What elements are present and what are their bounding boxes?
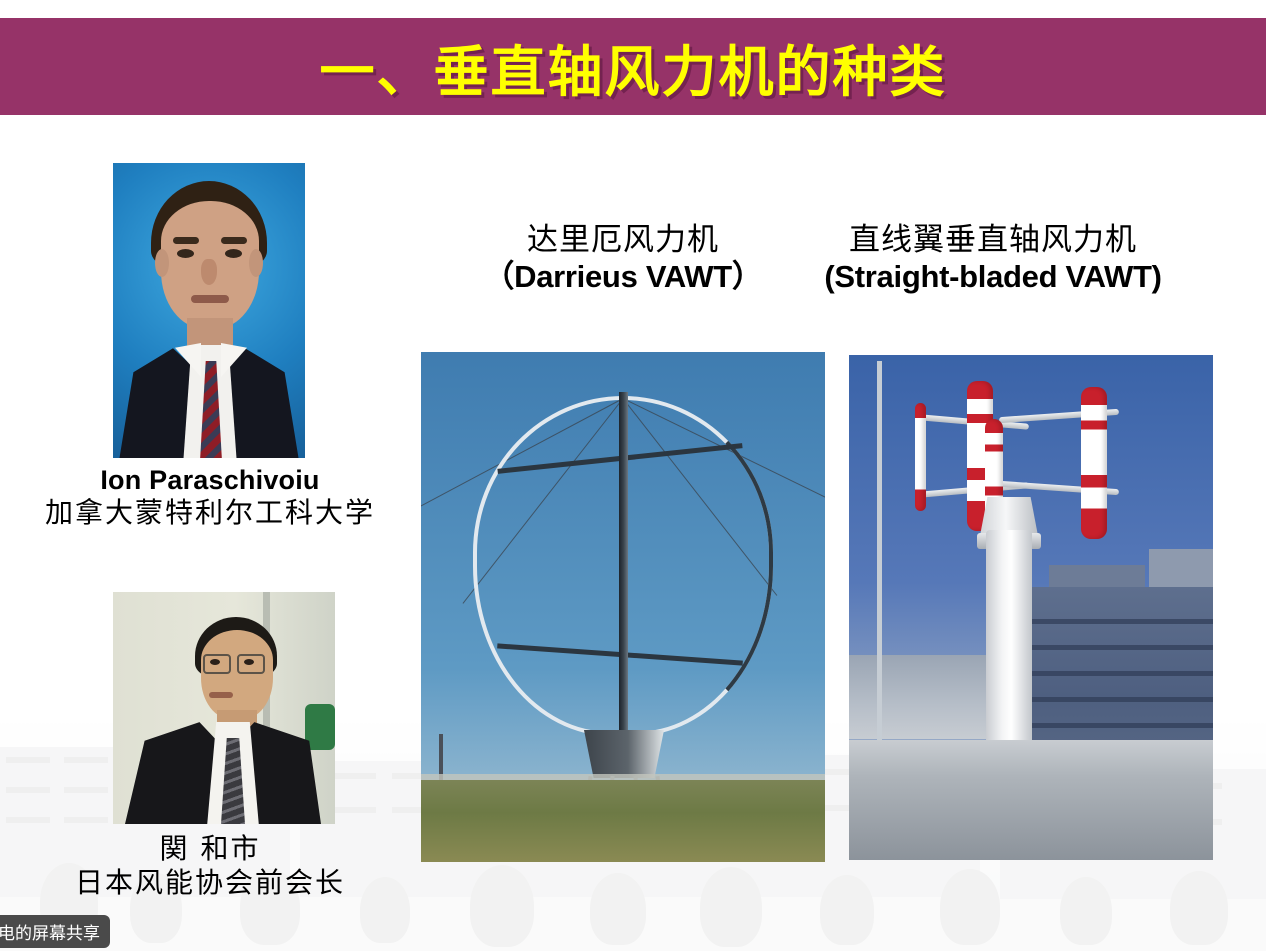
straight-bladed-heading: 直线翼垂直轴风力机 (Straight-bladed VAWT) bbox=[778, 222, 1208, 295]
person-affiliation: 日本风能协会前会长 bbox=[0, 866, 420, 900]
caption-seki-kazuichi: 関 和市 日本风能协会前会长 bbox=[0, 832, 420, 899]
darrieus-heading-english: （Darrieus VAWT） bbox=[458, 259, 788, 296]
straight-bladed-heading-chinese: 直线翼垂直轴风力机 bbox=[778, 222, 1208, 259]
person-name: 関 和市 bbox=[0, 832, 420, 866]
screen-share-notice-badge: 电的屏幕共享 bbox=[0, 915, 110, 948]
presentation-slide: 一、垂直轴风力机的种类 达里厄风力机 （Darrieus VAWT） 直线翼垂直… bbox=[0, 0, 1266, 951]
portrait-photo-seki-kazuichi bbox=[113, 592, 335, 824]
darrieus-vawt-photo bbox=[421, 352, 825, 862]
screen-share-notice-text: 电的屏幕共享 bbox=[0, 919, 100, 944]
straight-bladed-vawt-photo bbox=[849, 355, 1213, 860]
slide-title-band: 一、垂直轴风力机的种类 bbox=[0, 18, 1266, 115]
person-affiliation: 加拿大蒙特利尔工科大学 bbox=[0, 496, 420, 530]
portrait-photo-ion-paraschivoiu bbox=[113, 163, 305, 458]
straight-bladed-heading-english: (Straight-bladed VAWT) bbox=[778, 259, 1208, 296]
person-name: Ion Paraschivoiu bbox=[0, 464, 420, 496]
caption-ion-paraschivoiu: Ion Paraschivoiu 加拿大蒙特利尔工科大学 bbox=[0, 464, 420, 530]
darrieus-heading-chinese: 达里厄风力机 bbox=[458, 222, 788, 259]
darrieus-heading: 达里厄风力机 （Darrieus VAWT） bbox=[458, 222, 788, 295]
page-title: 一、垂直轴风力机的种类 bbox=[319, 27, 946, 107]
